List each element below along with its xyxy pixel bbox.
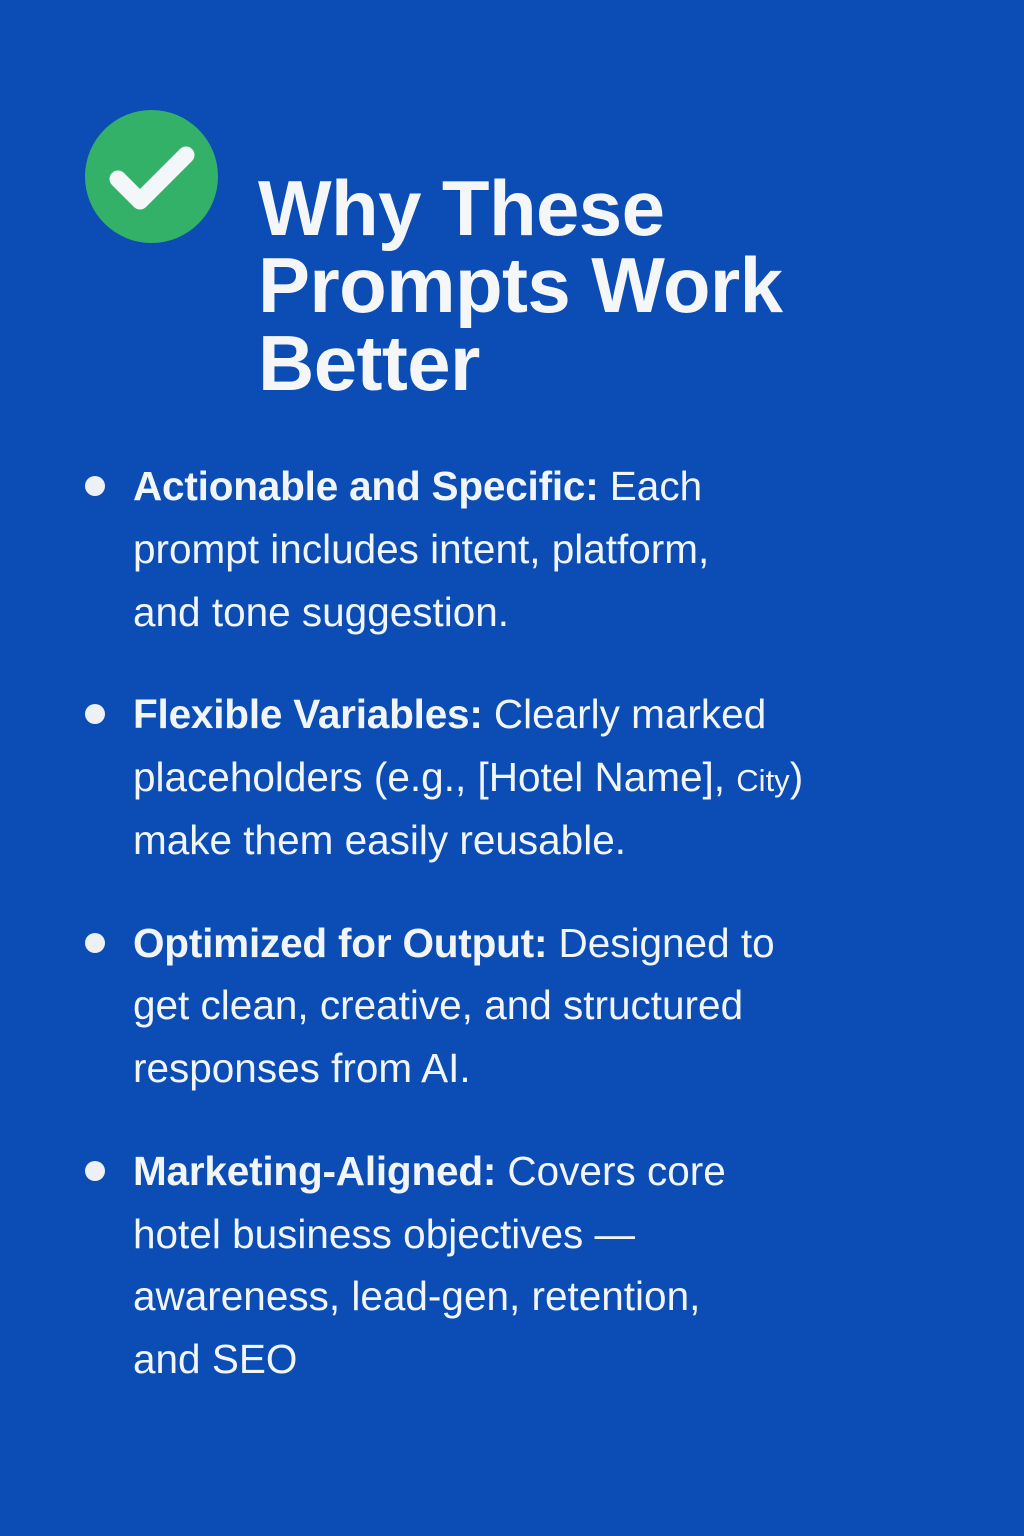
list-item-line-1: Actionable and Specific: Each: [133, 455, 974, 518]
check-circle-icon: [85, 110, 218, 243]
list-item-label: Actionable and Specific:: [133, 463, 599, 509]
list-item-line-3: and tone suggestion.: [133, 581, 974, 644]
benefits-list: Actionable and Specific: Each prompt inc…: [74, 455, 974, 1391]
list-item: Optimized for Output: Designed to get cl…: [74, 912, 974, 1100]
list-item-text: Clearly marked: [483, 691, 767, 737]
page-title-line-1: Why These: [258, 170, 782, 247]
list-item-line-1: Marketing-Aligned: Covers core: [133, 1140, 974, 1203]
bullet-dot-icon: [85, 704, 105, 724]
page-title-line-2: Prompts Work: [258, 247, 782, 324]
bullet-dot-icon: [85, 1161, 105, 1181]
list-item-line-3: make them easily reusable.: [133, 809, 974, 872]
list-item-line-2: placeholders (e.g., [Hotel Name], City): [133, 746, 974, 809]
list-item-label: Optimized for Output:: [133, 920, 547, 966]
card-header: Why These Prompts Work Better: [85, 108, 945, 454]
list-item-text: Each: [599, 463, 703, 509]
list-item-text: Designed to: [547, 920, 774, 966]
list-item-text: placeholders (e.g., [Hotel Name],: [133, 754, 736, 800]
closing-paren: ): [790, 754, 804, 800]
list-item-line-4: and SEO: [133, 1328, 974, 1391]
list-item-label: Marketing-Aligned:: [133, 1148, 496, 1194]
placeholder-token-city: City: [736, 763, 789, 798]
list-item-label: Flexible Variables:: [133, 691, 483, 737]
list-item-line-2: hotel business objectives —: [133, 1203, 974, 1266]
page-title-line-3: Better: [258, 325, 782, 402]
infographic-card: Why These Prompts Work Better Actionable…: [0, 0, 1024, 1536]
bullet-dot-icon: [85, 933, 105, 953]
list-item-line-2: prompt includes intent, platform,: [133, 518, 974, 581]
bullet-dot-icon: [85, 476, 105, 496]
page-title: Why These Prompts Work Better: [258, 160, 782, 402]
list-item-line-1: Optimized for Output: Designed to: [133, 912, 974, 975]
list-item-line-3: responses from AI.: [133, 1037, 974, 1100]
list-item: Flexible Variables: Clearly marked place…: [74, 683, 974, 871]
list-item: Marketing-Aligned: Covers core hotel bus…: [74, 1140, 974, 1391]
list-item-line-1: Flexible Variables: Clearly marked: [133, 683, 974, 746]
list-item-text: Covers core: [496, 1148, 726, 1194]
list-item-line-3: awareness, lead-gen, retention,: [133, 1265, 974, 1328]
list-item: Actionable and Specific: Each prompt inc…: [74, 455, 974, 643]
list-item-line-2: get clean, creative, and structured: [133, 974, 974, 1037]
